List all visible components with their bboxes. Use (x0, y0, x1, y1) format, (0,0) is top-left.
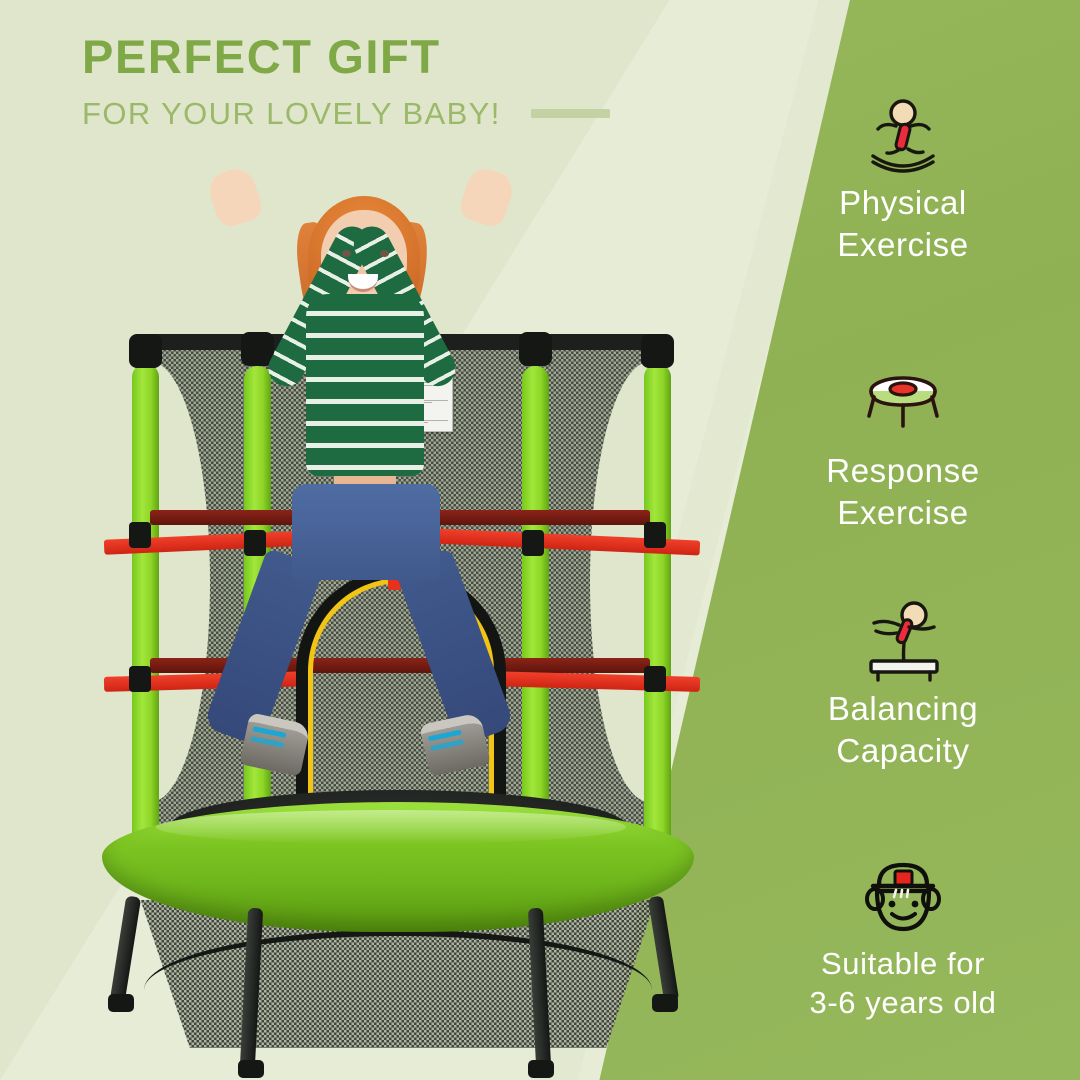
base-mesh-arc (144, 930, 652, 1050)
leg-foot (652, 994, 678, 1012)
feature-item-balancing-capacity: Balancing Capacity (738, 596, 1068, 771)
jeans-waist (292, 484, 440, 580)
frame-pad-highlight (156, 810, 626, 844)
person-balancing-on-beam-icon (738, 596, 1068, 688)
trampoline-leg (648, 895, 679, 1002)
strap-buckle (644, 666, 666, 692)
leg-foot (238, 1060, 264, 1078)
trampoline-base (96, 780, 700, 1080)
feature-list: Physical Exercise Response Exercise (720, 0, 1080, 1080)
feature-item-response-exercise: Response Exercise (738, 358, 1068, 533)
product-photo: Warning (0, 0, 720, 1080)
striped-shirt (306, 294, 424, 476)
hand-right (457, 164, 517, 230)
feature-label: Suitable for 3-6 years old (738, 944, 1068, 1022)
feature-label: Balancing Capacity (738, 688, 1068, 771)
shoe-stripe (250, 736, 284, 748)
strap-buckle (129, 522, 151, 548)
feature-item-physical-exercise: Physical Exercise (738, 90, 1068, 265)
eye-right (380, 250, 389, 257)
person-bouncing-on-trampoline-icon (738, 90, 1068, 182)
strap-buckle (644, 522, 666, 548)
pole-cap (129, 334, 162, 368)
pole-cap (641, 334, 674, 368)
trampoline-leg (110, 895, 141, 1002)
strap-buckle (129, 666, 151, 692)
leg-foot (528, 1060, 554, 1078)
strap-buckle (244, 530, 266, 556)
feature-label: Response Exercise (738, 450, 1068, 533)
feature-item-age-range: Suitable for 3-6 years old (738, 852, 1068, 1022)
leg-foot (108, 994, 134, 1012)
eye-left (342, 250, 351, 257)
promo-banner: PERFECT GIFT FOR YOUR LOVELY BABY! (0, 0, 1080, 1080)
child-face-with-cap-icon (738, 852, 1068, 944)
pole-cap (519, 332, 552, 366)
feature-label: Physical Exercise (738, 182, 1068, 265)
hand-left (205, 164, 265, 230)
shoe-stripe (430, 739, 464, 751)
strap-buckle (522, 530, 544, 556)
trampoline-icon (738, 358, 1068, 450)
